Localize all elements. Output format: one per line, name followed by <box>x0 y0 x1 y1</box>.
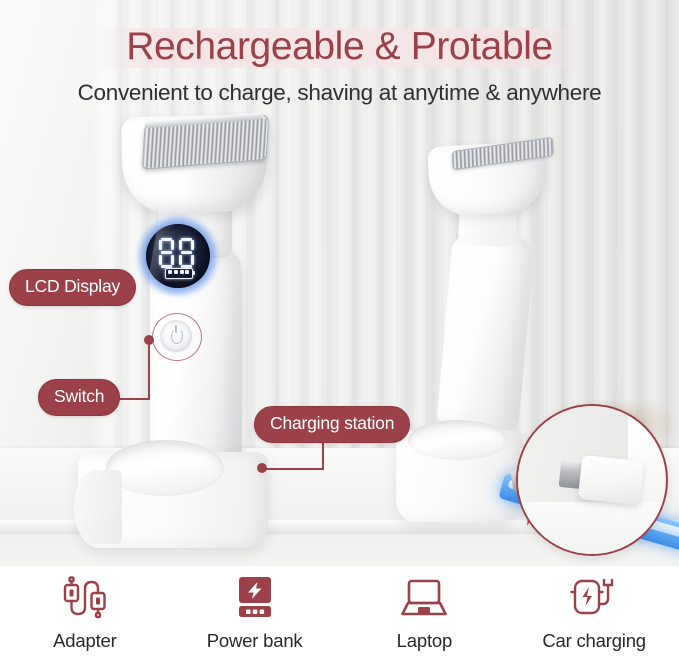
electric-shaver-with-lcd <box>112 108 277 468</box>
switch-highlight-ring <box>152 313 202 361</box>
feature-car-charging: Car charging <box>509 566 679 652</box>
feature-adapter: Adapter <box>0 566 170 652</box>
charging-dock-lip <box>74 470 122 544</box>
page-title: Rechargeable & Protable <box>0 24 679 70</box>
feature-laptop: Laptop <box>340 566 510 652</box>
feature-power-bank: Power bank <box>170 566 340 652</box>
product-infographic: Rechargeable & Protable Convenient to ch… <box>0 0 679 662</box>
callout-lcd-display: LCD Display <box>9 269 136 306</box>
callout-charging-station: Charging station <box>254 406 410 443</box>
magnifier-inset <box>516 404 668 556</box>
magnifier-surface <box>516 502 668 556</box>
shaver-b-foil-screen <box>452 137 554 170</box>
lcd-display <box>146 224 210 288</box>
laptop-icon <box>397 574 451 622</box>
callout-switch-leader-vertical <box>148 340 150 400</box>
feature-bar: Adapter Power bank <box>0 566 679 662</box>
shaver-b-body <box>436 225 535 431</box>
magnifier-usb-plug <box>578 455 644 505</box>
adapter-icon <box>58 574 112 622</box>
feature-label: Power bank <box>207 630 303 652</box>
car-charging-icon <box>567 574 621 622</box>
feature-label: Laptop <box>397 630 452 652</box>
feature-label: Adapter <box>53 630 116 652</box>
callout-switch: Switch <box>38 379 120 416</box>
charging-dock-cup-secondary <box>408 420 508 460</box>
feature-label: Car charging <box>542 630 646 652</box>
shaver-head <box>121 115 268 214</box>
callout-charging-leader-horizontal <box>262 468 324 470</box>
power-bank-icon <box>228 574 282 622</box>
shaver-b-head <box>427 141 547 217</box>
battery-tip <box>192 271 195 275</box>
page-subtitle: Convenient to charge, shaving at anytime… <box>0 78 679 108</box>
charging-dock-cup <box>106 440 224 496</box>
battery-indicator <box>165 268 193 279</box>
